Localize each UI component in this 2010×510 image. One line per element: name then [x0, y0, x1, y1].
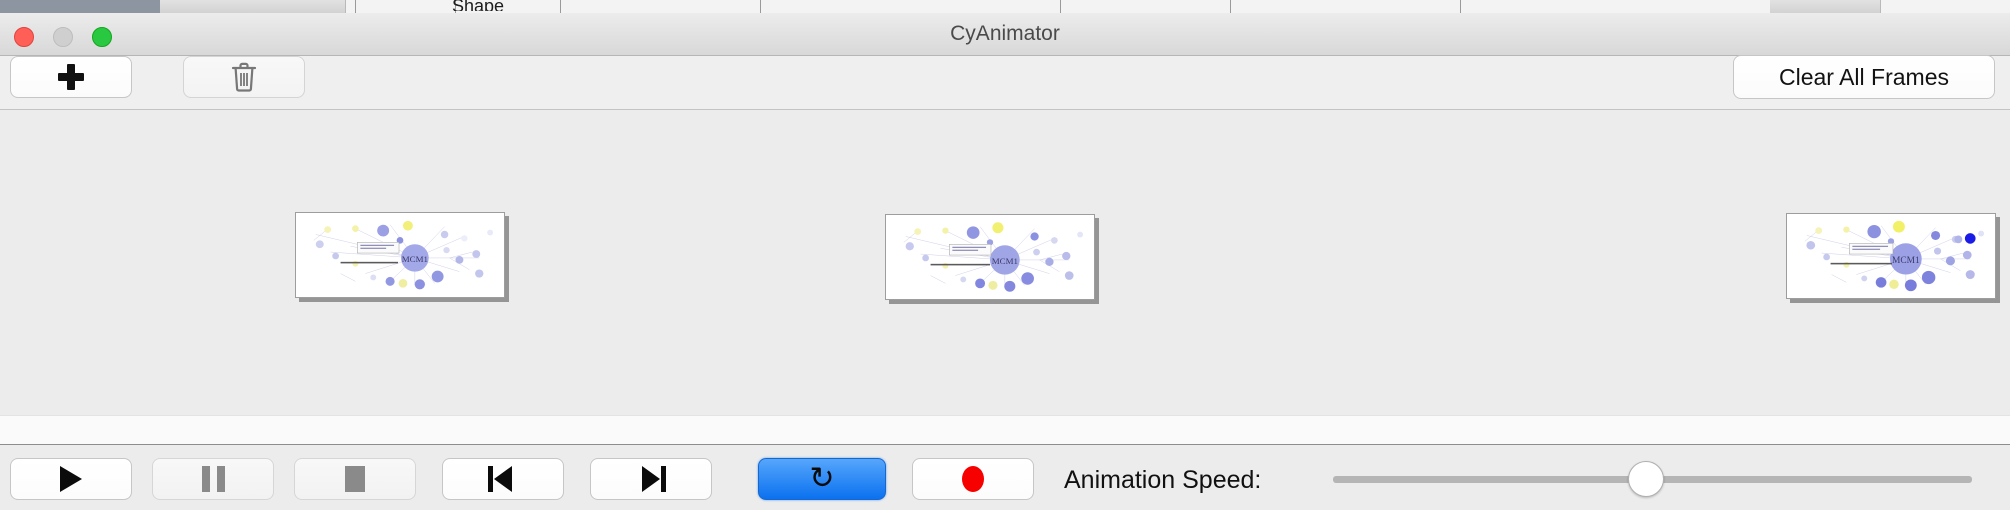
network-thumbnail-image: MCM1: [886, 215, 1094, 299]
skip-back-icon: [488, 466, 518, 492]
network-thumbnail-image: MCM1: [1787, 214, 1995, 298]
loop-button[interactable]: ↻: [758, 458, 886, 500]
frame-thumbnail[interactable]: MCM1: [295, 212, 505, 298]
background-label-shape: Shape: [452, 0, 504, 11]
frame-node-label: MCM1: [1892, 256, 1920, 266]
frame-node-label: MCM1: [992, 256, 1018, 266]
delete-frame-button[interactable]: [183, 56, 305, 98]
loop-icon: ↻: [809, 464, 834, 494]
timeline-scrollbar[interactable]: [0, 415, 2010, 445]
background-tab: [1770, 0, 1881, 13]
prev-frame-button[interactable]: [442, 458, 564, 500]
background-dark-panel: [0, 0, 160, 13]
timeline-panel[interactable]: MCM1: [0, 110, 2010, 415]
frame-node-label: MCM1: [402, 254, 428, 264]
stop-button[interactable]: [294, 458, 416, 500]
network-thumbnail-image: MCM1: [296, 213, 504, 297]
background-tab: [250, 0, 346, 13]
play-icon: [60, 466, 82, 492]
title-bar: CyAnimator: [0, 13, 2010, 56]
record-button[interactable]: [912, 458, 1034, 500]
background-divider: [760, 0, 761, 13]
record-icon: [962, 466, 984, 492]
background-divider: [355, 0, 356, 13]
background-tab: [160, 0, 251, 13]
cyanimator-window: Shape CyAnimator Clear All Frames: [0, 0, 2010, 510]
pause-icon: [202, 466, 225, 492]
next-frame-button[interactable]: [590, 458, 712, 500]
plus-icon: [58, 64, 84, 90]
trash-icon: [231, 62, 257, 92]
animation-speed-label: Animation Speed:: [1064, 466, 1261, 495]
pause-button[interactable]: [152, 458, 274, 500]
animation-speed-slider-thumb[interactable]: [1628, 461, 1664, 497]
add-frame-button[interactable]: [10, 56, 132, 98]
background-divider: [1230, 0, 1231, 13]
skip-forward-icon: [636, 466, 666, 492]
play-button[interactable]: [10, 458, 132, 500]
frame-thumbnail[interactable]: MCM1: [885, 214, 1095, 300]
background-divider: [1060, 0, 1061, 13]
stop-icon: [345, 466, 365, 492]
background-divider: [560, 0, 561, 13]
clear-all-frames-button[interactable]: Clear All Frames: [1733, 55, 1995, 99]
background-window-strip: Shape: [0, 0, 2010, 13]
background-divider: [1460, 0, 1461, 13]
frame-thumbnail[interactable]: MCM1: [1786, 213, 1996, 299]
window-title: CyAnimator: [0, 22, 2010, 46]
